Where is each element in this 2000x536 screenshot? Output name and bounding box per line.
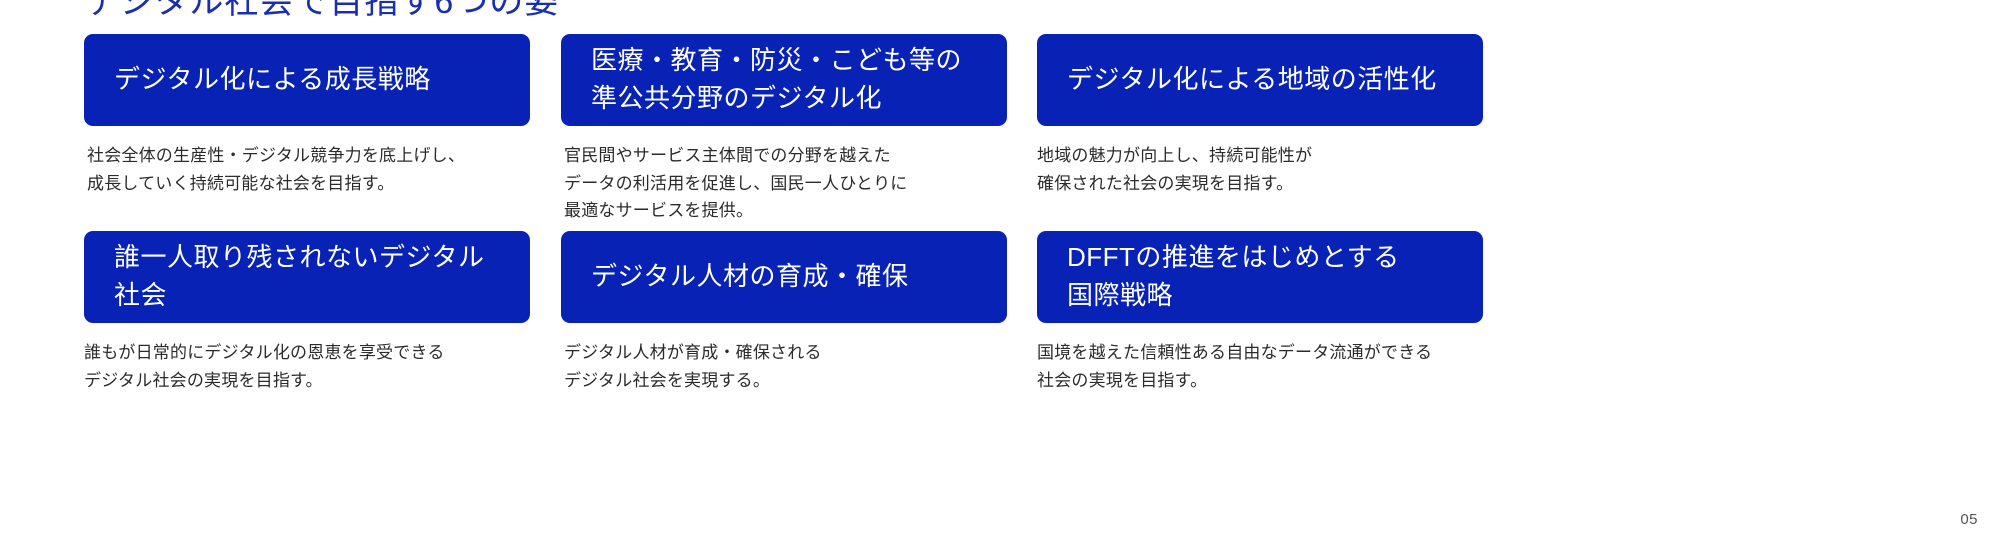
card-description-5: デジタル人材が育成・確保される デジタル社会を実現する。 — [561, 339, 1007, 394]
card-description-3: 地域の魅力が向上し、持続可能性が 確保された社会の実現を目指す。 — [1037, 142, 1483, 197]
page-number: 05 — [1960, 511, 1978, 528]
card-header-quasi-public-digitalization[interactable]: 医療・教育・防災・こども等の 準公共分野のデジタル化 — [561, 34, 1007, 126]
card-header-no-one-left-behind[interactable]: 誰一人取り残されないデジタル社会 — [84, 231, 530, 323]
card-title-6: DFFTの推進をはじめとする 国際戦略 — [1067, 239, 1400, 314]
card-header-regional-revitalization[interactable]: デジタル化による地域の活性化 — [1037, 34, 1483, 126]
card-cell-1: デジタル化による成長戦略 社会全体の生産性・デジタル競争力を底上げし、 成長して… — [84, 34, 530, 197]
card-cell-6: DFFTの推進をはじめとする 国際戦略 国境を越えた信頼性ある自由なデータ流通が… — [1037, 231, 1483, 394]
card-header-growth-strategy[interactable]: デジタル化による成長戦略 — [84, 34, 530, 126]
cards-grid: デジタル化による成長戦略 社会全体の生産性・デジタル競争力を底上げし、 成長して… — [0, 0, 2000, 536]
card-cell-4: 誰一人取り残されないデジタル社会 誰もが日常的にデジタル化の恩恵を享受できる デ… — [84, 231, 530, 394]
card-header-digital-talent[interactable]: デジタル人材の育成・確保 — [561, 231, 1007, 323]
card-cell-2: 医療・教育・防災・こども等の 準公共分野のデジタル化 官民間やサービス主体間での… — [561, 34, 1007, 225]
slide-root: デジタル社会で目指す6つの姿 デジタル化による成長戦略 社会全体の生産性・デジタ… — [0, 0, 2000, 536]
card-description-6: 国境を越えた信頼性ある自由なデータ流通ができる 社会の実現を目指す。 — [1037, 339, 1483, 394]
card-title-1: デジタル化による成長戦略 — [114, 61, 431, 99]
card-title-2: 医療・教育・防災・こども等の 準公共分野のデジタル化 — [591, 42, 962, 117]
card-header-dfft-international-strategy[interactable]: DFFTの推進をはじめとする 国際戦略 — [1037, 231, 1483, 323]
card-cell-5: デジタル人材の育成・確保 デジタル人材が育成・確保される デジタル社会を実現する… — [561, 231, 1007, 394]
card-description-4: 誰もが日常的にデジタル化の恩恵を享受できる デジタル社会の実現を目指す。 — [84, 339, 530, 394]
card-title-3: デジタル化による地域の活性化 — [1067, 61, 1437, 99]
card-description-1: 社会全体の生産性・デジタル競争力を底上げし、 成長していく持続可能な社会を目指す… — [84, 142, 530, 197]
card-title-4: 誰一人取り残されないデジタル社会 — [114, 239, 500, 314]
card-title-5: デジタル人材の育成・確保 — [591, 258, 908, 296]
card-cell-3: デジタル化による地域の活性化 地域の魅力が向上し、持続可能性が 確保された社会の… — [1037, 34, 1483, 197]
card-description-2: 官民間やサービス主体間での分野を越えた データの利活用を促進し、国民一人ひとりに… — [561, 142, 1007, 225]
